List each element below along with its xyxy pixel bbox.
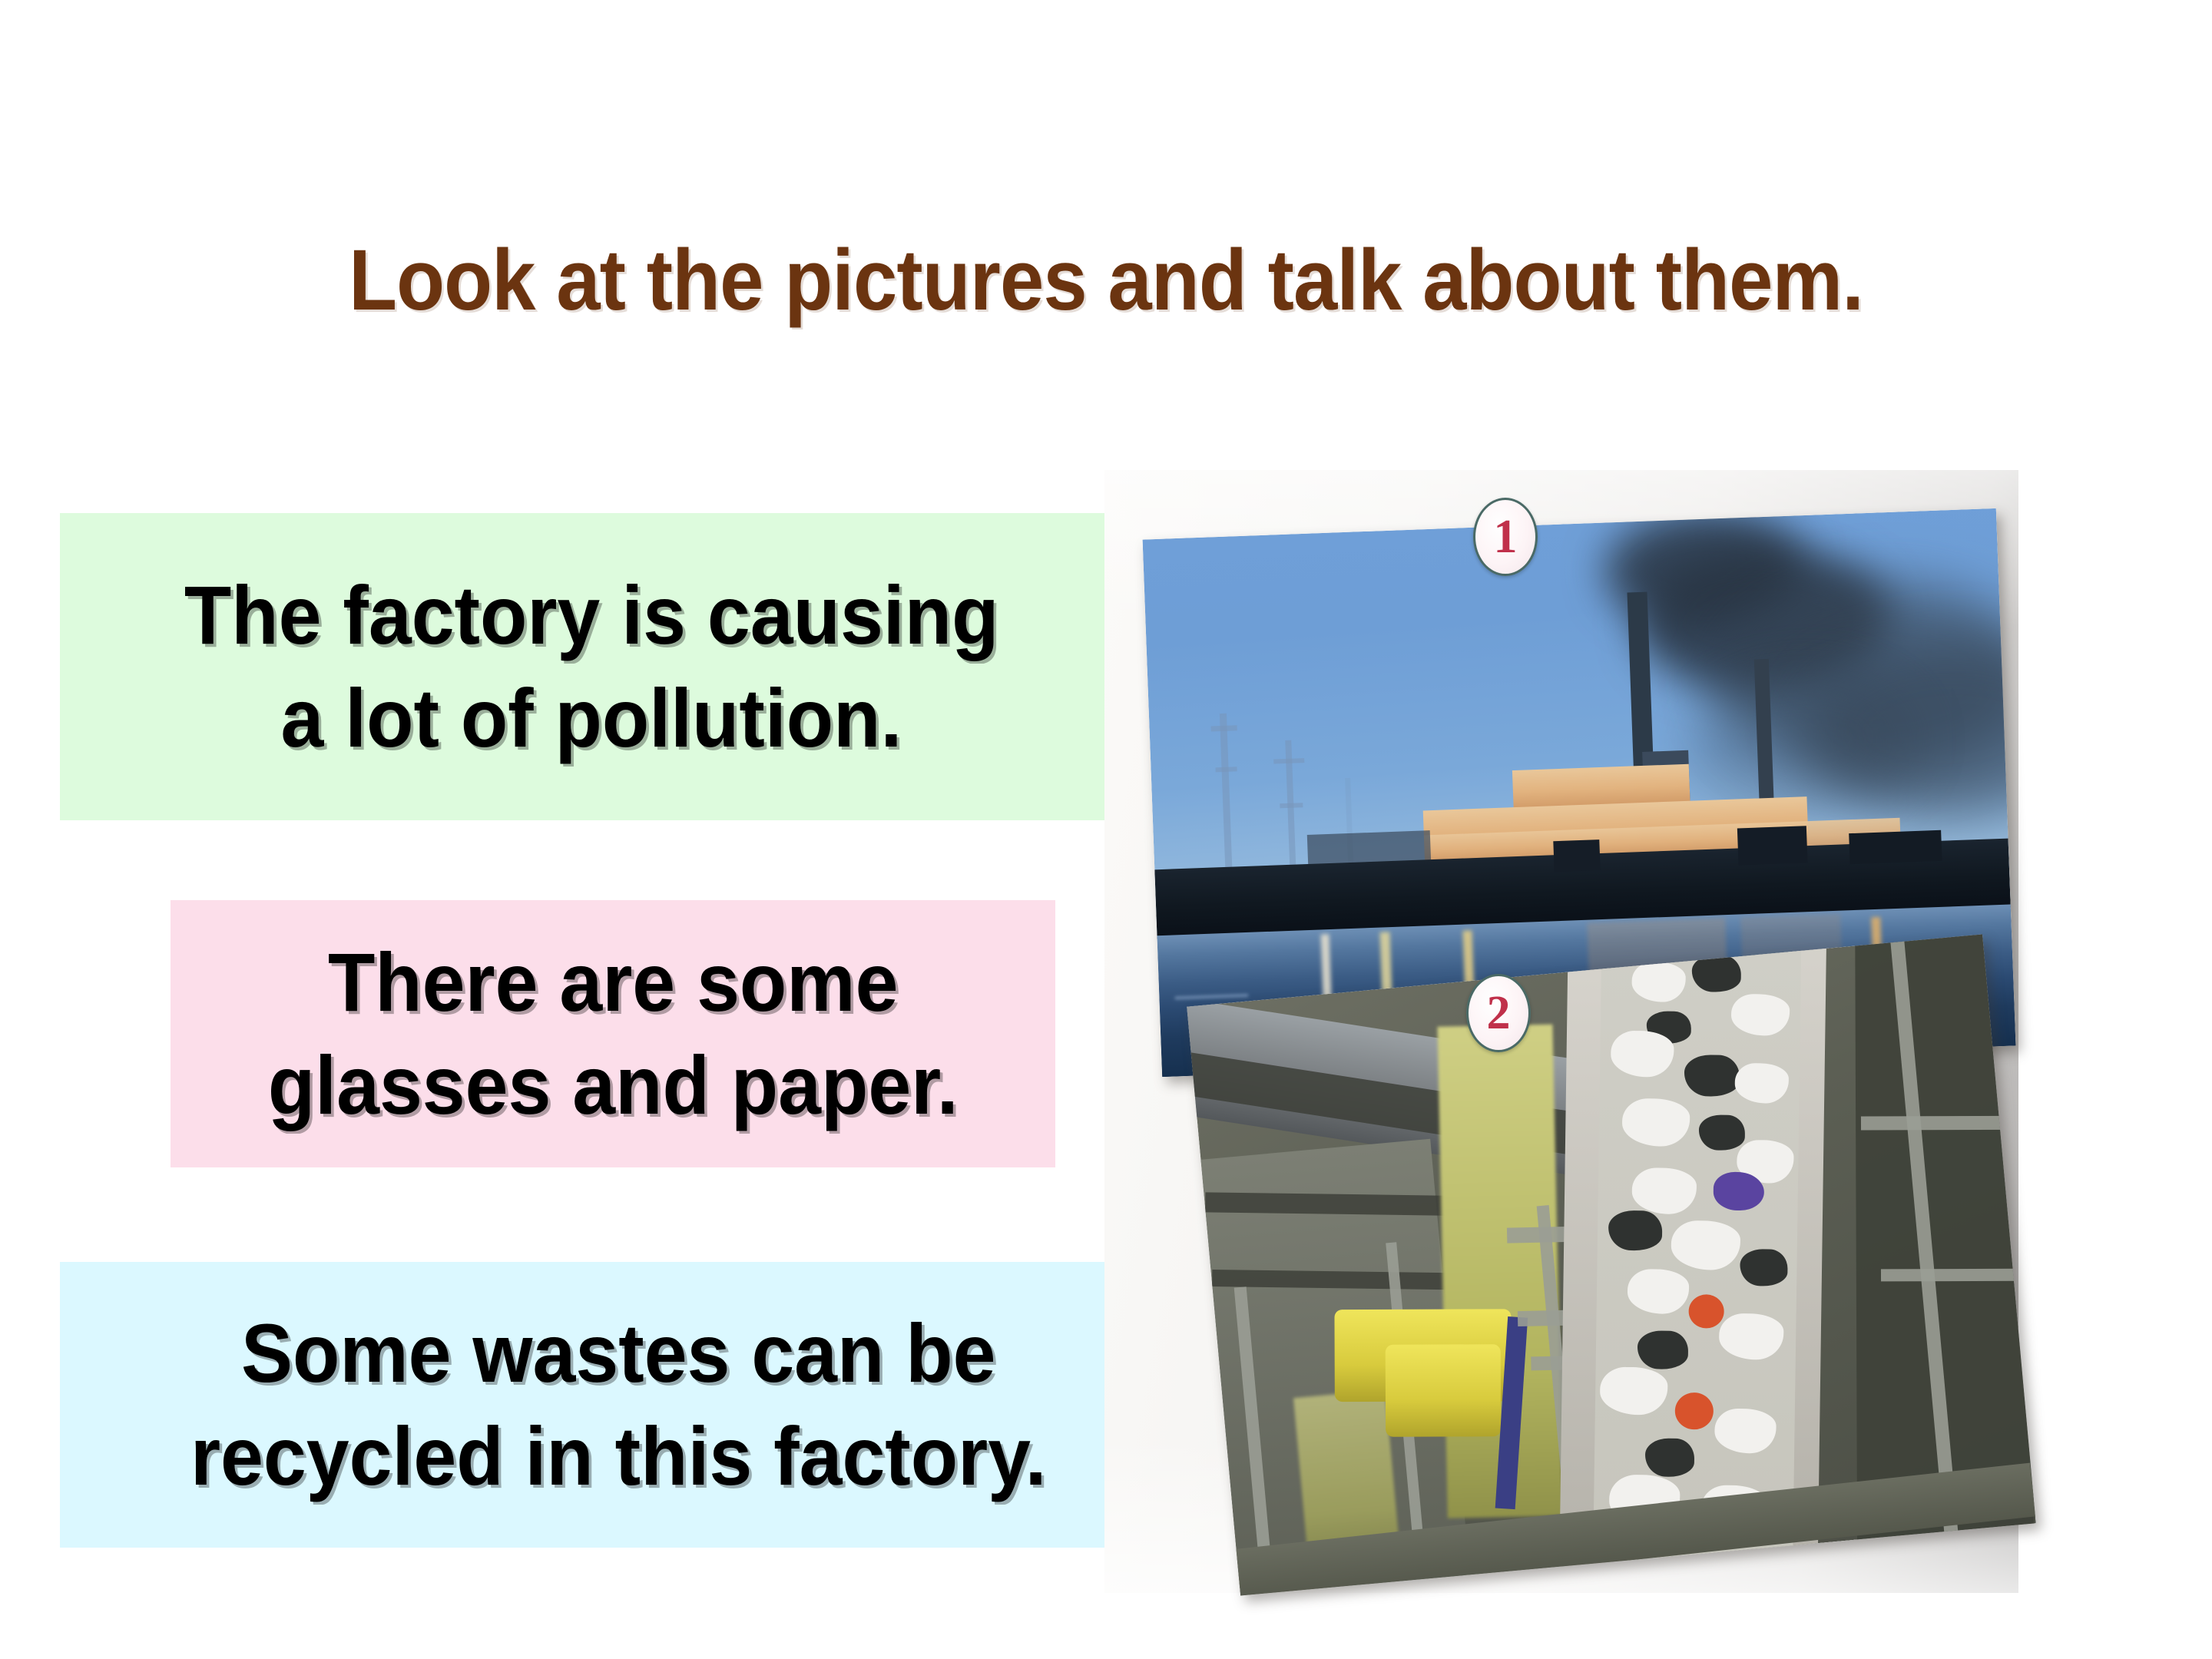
caption-line-2: recycled in this factory. — [190, 1405, 1047, 1508]
yellow-machinery-drum — [1386, 1344, 1501, 1437]
silhouette — [1737, 826, 1808, 865]
caption-line-1: There are some — [328, 931, 899, 1034]
pylon-icon — [1215, 767, 1237, 772]
caption-line-2: a lot of pollution. — [281, 667, 902, 770]
structural-beam — [1205, 1192, 1459, 1216]
page-title: Look at the pictures and talk about them… — [88, 230, 2124, 329]
caption-box-glasses-paper: There are some glasses and paper. — [171, 900, 1055, 1167]
caption-line-1: Some wastes can be — [241, 1302, 996, 1405]
caption-box-recycled-wastes: Some wastes can be recycled in this fact… — [60, 1262, 1177, 1548]
caption-box-pollution: The factory is causing a lot of pollutio… — [60, 513, 1123, 820]
caption-line-2: glasses and paper. — [268, 1034, 959, 1137]
structural-beam — [1861, 1116, 2007, 1131]
silhouette — [1849, 830, 1942, 864]
pylon-icon — [1211, 725, 1237, 731]
caption-line-1: The factory is causing — [184, 564, 999, 667]
photo-recycling-plant-image — [1187, 934, 2036, 1595]
silhouette — [1553, 839, 1600, 872]
pylon-icon — [1280, 803, 1303, 808]
photo-number-badge-1: 1 — [1473, 498, 1538, 576]
structural-beam — [1881, 1269, 2019, 1282]
conveyor-belt-waste — [1593, 945, 1802, 1586]
photo-recycling-plant[interactable] — [1187, 934, 2036, 1595]
photo-number-badge-2: 2 — [1466, 974, 1531, 1052]
structural-beam — [1212, 1270, 1450, 1290]
slide-canvas: Look at the pictures and talk about them… — [0, 0, 2212, 1659]
